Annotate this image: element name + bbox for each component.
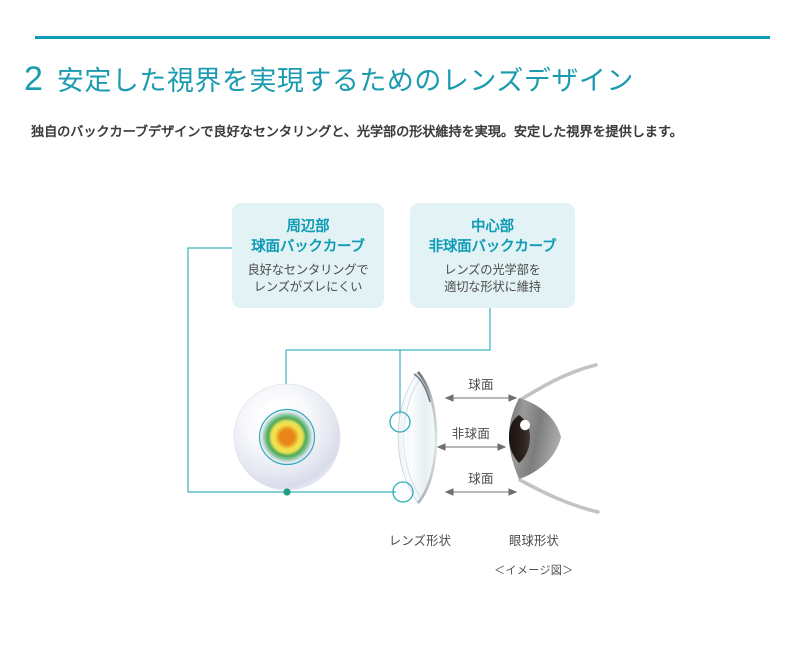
callout-peripheral-title-line1: 周辺部 <box>232 217 384 237</box>
callout-peripheral-title-line2: 球面バックカーブ <box>232 237 384 257</box>
callout-peripheral-body-line1: 良好なセンタリングで <box>232 262 384 279</box>
image-note: ＜イメージ図＞ <box>494 562 574 578</box>
page-root: 2 安定した視界を実現するためのレンズデザイン 独自のバックカーブデザインで良好… <box>0 0 800 655</box>
diagram-stage: 周辺部 球面バックカーブ 良好なセンタリングで レンズがズレにくい 中心部 非球… <box>0 0 800 655</box>
centration-marker-dot <box>283 488 290 495</box>
callout-central-body-line1: レンズの光学部を <box>410 262 575 279</box>
label-aspherical: 非球面 <box>441 423 501 442</box>
callout-central-body: レンズの光学部を 適切な形状に維持 <box>410 262 575 297</box>
callout-central-title-line1: 中心部 <box>410 217 575 237</box>
callout-central-body-line2: 適切な形状に維持 <box>410 279 575 296</box>
callout-central: 中心部 非球面バックカーブ レンズの光学部を 適切な形状に維持 <box>410 203 575 308</box>
callout-central-title-line2: 非球面バックカーブ <box>410 237 575 257</box>
label-upper-spherical: 球面 <box>451 374 511 393</box>
lens-cross-section <box>398 372 436 503</box>
eye-front-view <box>234 384 340 490</box>
caption-eyeball-shape: 眼球形状 <box>496 531 572 549</box>
diagram-graphics <box>0 0 800 655</box>
callout-peripheral-title: 周辺部 球面バックカーブ <box>232 217 384 257</box>
label-lower-spherical: 球面 <box>451 468 511 487</box>
callout-central-title: 中心部 非球面バックカーブ <box>410 217 575 257</box>
callout-peripheral: 周辺部 球面バックカーブ 良好なセンタリングで レンズがズレにくい <box>232 203 384 308</box>
callout-peripheral-body: 良好なセンタリングで レンズがズレにくい <box>232 262 384 297</box>
eyeball-cross-section <box>509 365 598 512</box>
caption-lens-shape: レンズ形状 <box>382 531 458 549</box>
callout-peripheral-body-line2: レンズがズレにくい <box>232 279 384 296</box>
